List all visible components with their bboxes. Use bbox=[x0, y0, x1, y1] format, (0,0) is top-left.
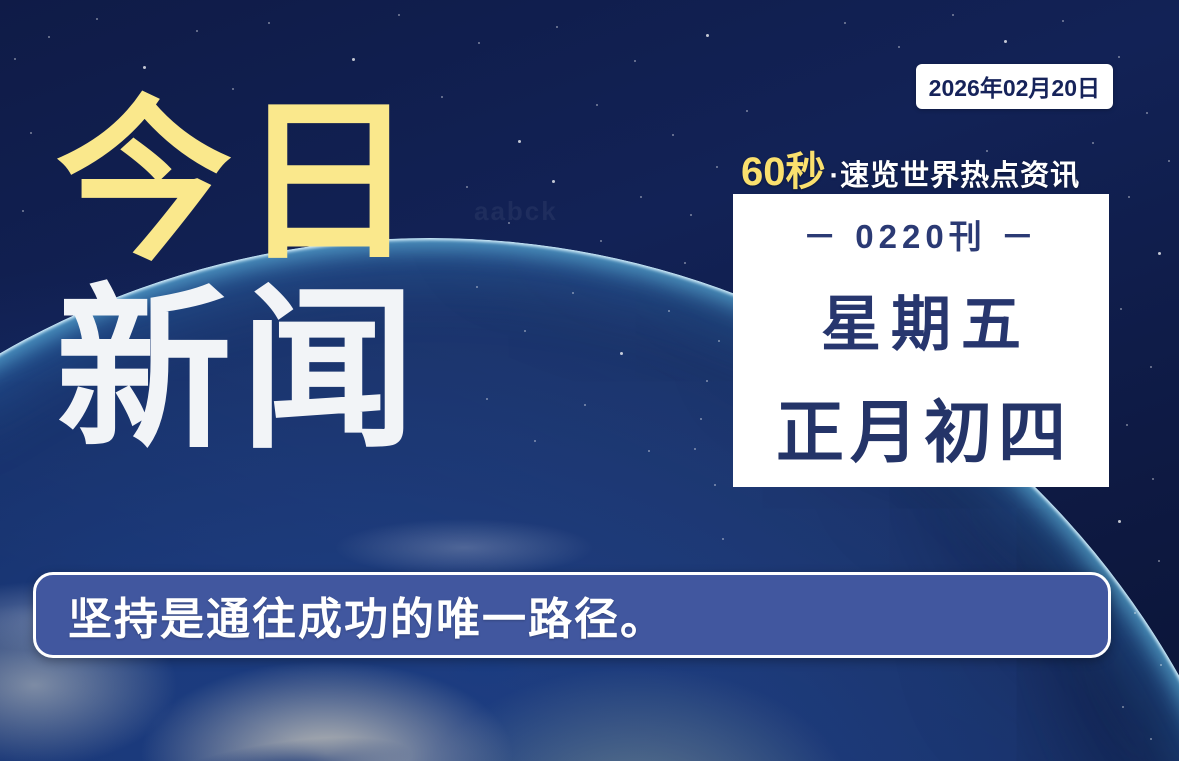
issue-number: － 0220刊 － bbox=[803, 210, 1039, 258]
date-info-card: － 0220刊 － 星期五 正月初四 bbox=[733, 194, 1109, 487]
tagline-description: ·速览世界热点资讯 bbox=[830, 152, 1081, 194]
headline-line-1: 今日 bbox=[56, 96, 424, 270]
watermark-text: aabck bbox=[474, 196, 558, 227]
tagline: 60秒 ·速览世界热点资讯 bbox=[741, 139, 1080, 197]
news-poster: aabck 今日 新闻 2026年02月20日 60秒 ·速览世界热点资讯 － … bbox=[0, 0, 1179, 761]
poster-headline: 今日 新闻 bbox=[56, 96, 424, 458]
tagline-duration: 60秒 bbox=[741, 139, 826, 197]
weekday-label: 星期五 bbox=[811, 276, 1031, 363]
date-badge: 2026年02月20日 bbox=[916, 64, 1113, 109]
quote-text: 坚持是通往成功的唯一路径。 bbox=[68, 583, 666, 647]
headline-line-2: 新闻 bbox=[56, 284, 424, 458]
lunar-date-label: 正月初四 bbox=[770, 377, 1072, 476]
quote-banner: 坚持是通往成功的唯一路径。 bbox=[33, 572, 1111, 658]
